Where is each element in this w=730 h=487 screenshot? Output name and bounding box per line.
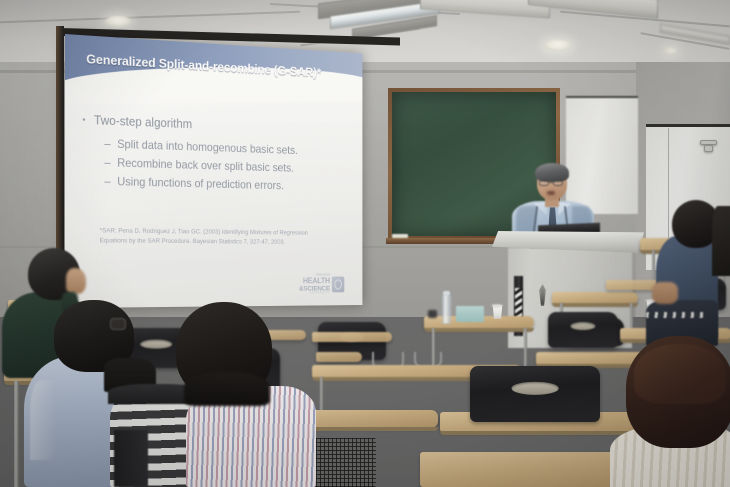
chair[interactable] (548, 312, 618, 348)
presentation-slide: Generalized Split-and-recombine (G-SAR)*… (65, 34, 362, 308)
clothing-stripe-detail (646, 312, 704, 318)
bullet-dot-icon: • (82, 113, 85, 128)
ceiling-downlight (664, 48, 678, 54)
desk[interactable] (552, 292, 638, 304)
ceiling-downlight (105, 16, 131, 27)
desk[interactable] (316, 352, 362, 362)
whiteboard-panel (566, 96, 638, 214)
slide-sub-bullet: – Using functions of prediction errors. (104, 174, 347, 194)
teal-folder[interactable] (456, 306, 484, 322)
audience-member-hair (634, 344, 726, 404)
presenter-eyeglasses (553, 180, 563, 186)
slide-bullet: • Two-step algorithm (82, 113, 347, 139)
audience-member-body (712, 206, 730, 276)
dash-marker-icon: – (104, 155, 110, 169)
dash-marker-icon: – (104, 136, 110, 150)
cabinet-handle[interactable] (704, 145, 713, 152)
audience-eyeglasses (110, 318, 126, 330)
chalk-stick[interactable] (392, 234, 408, 238)
desk[interactable] (312, 332, 392, 342)
slide-bullet-label: Two-step algorithm (94, 113, 192, 132)
projection-screen: Generalized Split-and-recombine (G-SAR)*… (65, 34, 362, 308)
logo-wordmark: OREGON HEALTH &SCIENCE UNIVERSITY (299, 274, 330, 295)
slide-footnote: *SAR: Pena D, Rodriguez J, Tiao GC. (200… (100, 226, 331, 247)
slide-sub-bullet-label: Using functions of prediction errors. (117, 174, 284, 192)
presenter-mouth (547, 191, 555, 195)
audience-member-hand (66, 268, 86, 294)
slide-sub-bullet-label: Recombine back over split basic sets. (117, 156, 294, 175)
ceiling-downlight (544, 40, 572, 51)
presenter-eyeglasses (539, 180, 549, 186)
chair[interactable] (470, 366, 600, 422)
slide-body: • Two-step algorithm – Split data into h… (65, 112, 362, 199)
paper-cup-rim (491, 304, 503, 307)
small-object[interactable] (428, 310, 437, 318)
slide-sub-bullet: – Recombine back over split basic sets. (104, 155, 347, 176)
desk-leg (14, 381, 19, 487)
logo-emblem-icon (332, 277, 344, 293)
bottle-cap (443, 291, 450, 295)
presenter-eyeglasses-bridge (549, 182, 553, 183)
audience-member-hair (184, 372, 270, 406)
desk-leg (524, 328, 527, 368)
audience-member-arm (114, 430, 148, 487)
audience-member-hand (652, 282, 678, 304)
lecture-hall-photo: Generalized Split-and-recombine (G-SAR)*… (0, 0, 730, 487)
dash-marker-icon: – (104, 174, 110, 188)
water-bottle[interactable] (442, 294, 451, 324)
slide-sub-bullet: – Split data into homogenous basic sets. (104, 136, 347, 158)
slide-sub-bullet-label: Split data into homogenous basic sets. (117, 137, 298, 157)
shirt-highlight (30, 380, 56, 460)
university-logo: OREGON HEALTH &SCIENCE UNIVERSITY (299, 263, 351, 295)
